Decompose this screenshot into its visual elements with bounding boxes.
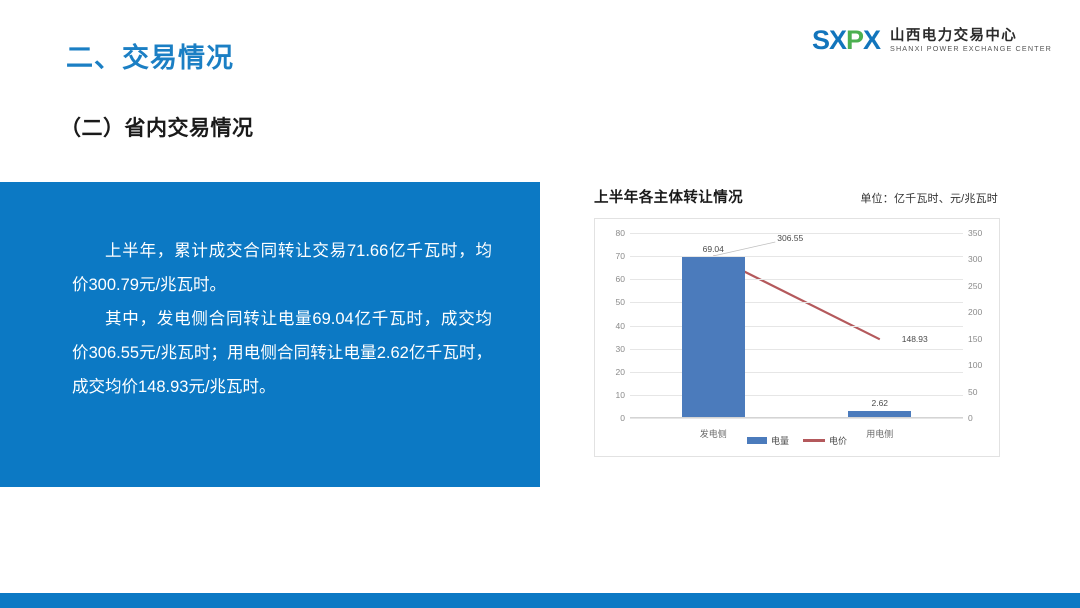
chart-header: 上半年各主体转让情况 单位：亿千瓦时、元/兆瓦时 xyxy=(594,186,1000,207)
bar xyxy=(682,257,745,417)
footer-bar xyxy=(0,593,1080,608)
logo-cn-name: 山西电力交易中心 xyxy=(890,29,1052,44)
summary-callout-box: 上半年，累计成交合同转让交易71.66亿千瓦时，均价300.79元/兆瓦时。 其… xyxy=(0,182,540,487)
legend-label: 电量 xyxy=(771,434,789,447)
gridline xyxy=(630,349,963,350)
y-axis-right-tick: 300 xyxy=(968,254,982,264)
y-axis-left-tick: 20 xyxy=(616,367,625,377)
x-axis-line xyxy=(630,417,963,418)
y-axis-right-tick: 0 xyxy=(968,413,973,423)
y-axis-left-tick: 50 xyxy=(616,297,625,307)
gridline xyxy=(630,279,963,280)
summary-paragraph-1: 上半年，累计成交合同转让交易71.66亿千瓦时，均价300.79元/兆瓦时。 xyxy=(72,234,492,302)
bar-value-label: 2.62 xyxy=(871,398,888,408)
gridline xyxy=(630,256,963,257)
logo-mark-part2: X xyxy=(863,27,880,54)
legend-item[interactable]: 电价 xyxy=(803,434,847,447)
summary-text: 上半年，累计成交合同转让交易71.66亿千瓦时，均价300.79元/兆瓦时。 其… xyxy=(72,234,492,404)
y-axis-left-tick: 0 xyxy=(620,413,625,423)
chart-frame: 0102030405060708005010015020025030035069… xyxy=(594,218,1000,457)
chart-legend: 电量电价 xyxy=(595,434,999,447)
logo-leaf-icon: P xyxy=(846,27,863,54)
summary-paragraph-2: 其中，发电侧合同转让电量69.04亿千瓦时，成交均价306.55元/兆瓦时；用电… xyxy=(72,302,492,404)
bar xyxy=(848,411,911,417)
logo-mark-part1: SX xyxy=(812,27,846,54)
y-axis-right-tick: 150 xyxy=(968,334,982,344)
y-axis-right-tick: 50 xyxy=(968,387,977,397)
section-subtitle: （二）省内交易情况 xyxy=(60,112,254,142)
y-axis-right-tick: 200 xyxy=(968,307,982,317)
chart-unit-note: 单位：亿千瓦时、元/兆瓦时 xyxy=(860,190,998,206)
logo-en-name: SHANXI POWER EXCHANGE CENTER xyxy=(890,45,1052,52)
legend-label: 电价 xyxy=(829,434,847,447)
y-axis-right-tick: 250 xyxy=(968,281,982,291)
y-axis-left-tick: 10 xyxy=(616,390,625,400)
y-axis-left-tick: 60 xyxy=(616,274,625,284)
legend-bar-swatch xyxy=(747,437,767,444)
page-title: 二、交易情况 xyxy=(66,36,234,75)
legend-line-swatch xyxy=(803,439,825,442)
y-axis-left-tick: 80 xyxy=(616,228,625,238)
logo-text-block: 山西电力交易中心 SHANXI POWER EXCHANGE CENTER xyxy=(890,29,1052,53)
chart-title: 上半年各主体转让情况 xyxy=(594,186,743,207)
logo-wordmark: SXPX xyxy=(812,27,880,54)
legend-item[interactable]: 电量 xyxy=(747,434,789,447)
chart-block: 上半年各主体转让情况 单位：亿千瓦时、元/兆瓦时 010203040506070… xyxy=(594,186,1000,457)
y-axis-left-tick: 40 xyxy=(616,321,625,331)
y-axis-left-tick: 30 xyxy=(616,344,625,354)
bar-value-label: 69.04 xyxy=(703,244,724,254)
line-value-label: 148.93 xyxy=(902,334,928,344)
gridline xyxy=(630,326,963,327)
chart-plot-area: 0102030405060708005010015020025030035069… xyxy=(630,233,963,418)
gridline xyxy=(630,372,963,373)
y-axis-right-tick: 100 xyxy=(968,360,982,370)
gridline xyxy=(630,302,963,303)
gridline xyxy=(630,395,963,396)
company-logo: SXPX 山西电力交易中心 SHANXI POWER EXCHANGE CENT… xyxy=(812,27,1052,54)
gridline xyxy=(630,418,963,419)
y-axis-left-tick: 70 xyxy=(616,251,625,261)
y-axis-right-tick: 350 xyxy=(968,228,982,238)
line-value-label: 306.55 xyxy=(777,233,803,243)
